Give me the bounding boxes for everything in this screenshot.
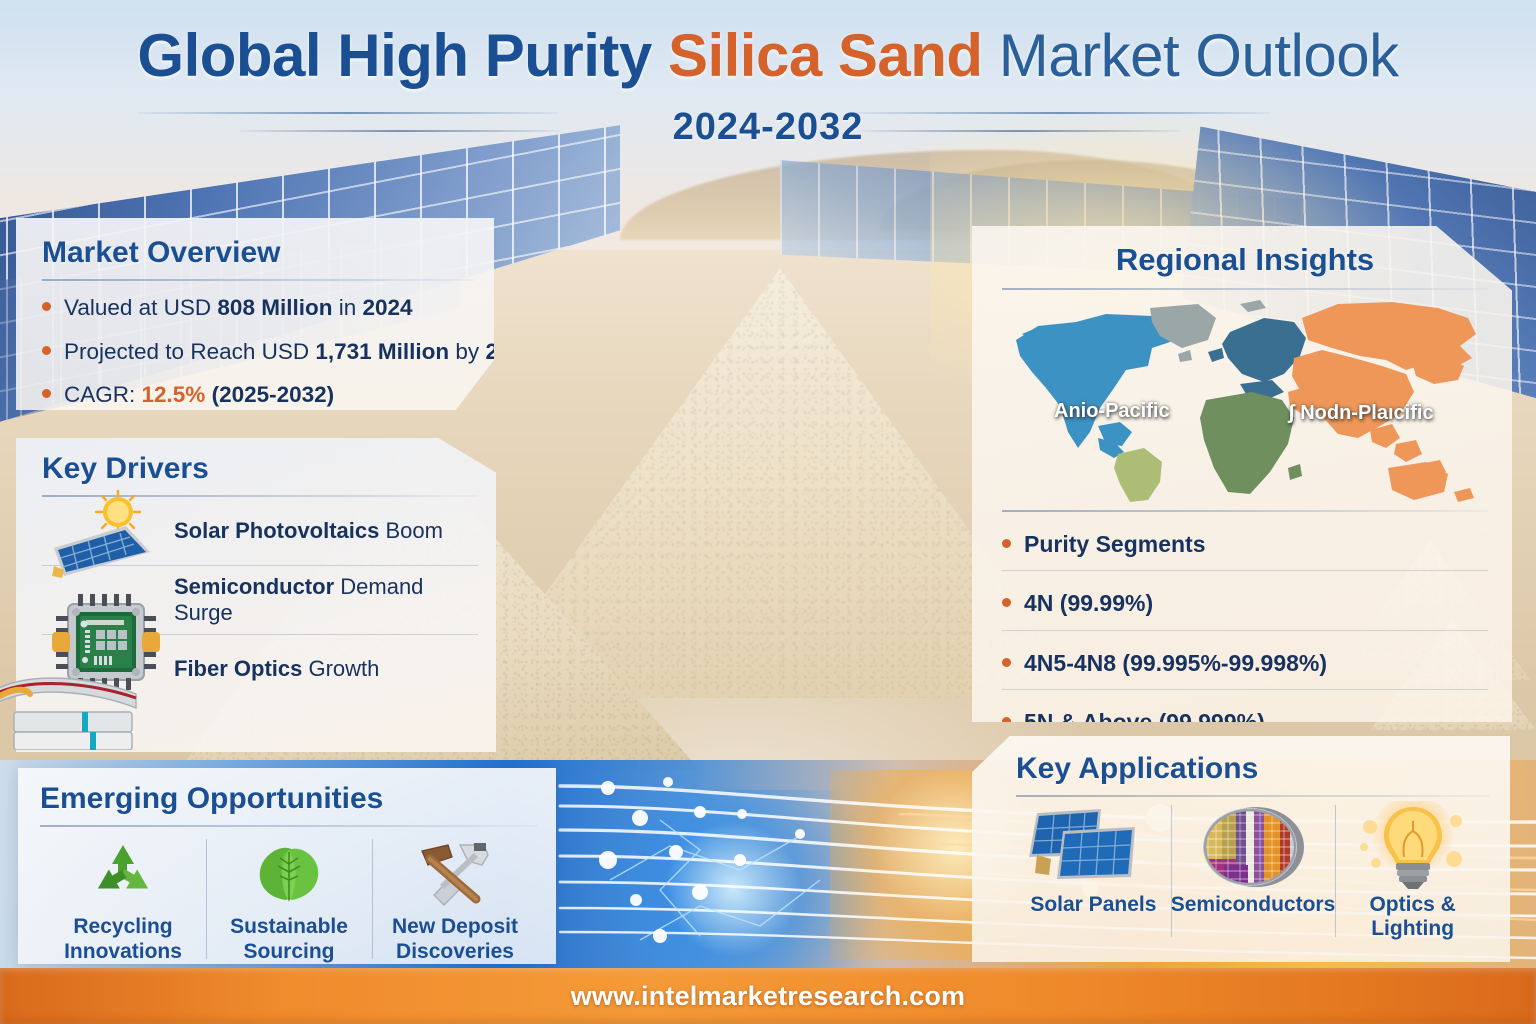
application-label: Solar Panels [1016, 893, 1171, 917]
opportunity-item: Sustainable Sourcing [206, 833, 372, 965]
hammer-pick-icon [372, 837, 538, 911]
application-label: Optics & Lighting [1335, 893, 1490, 941]
title-part-1: Global High Purity [137, 22, 668, 89]
bullet-dot-icon [1002, 539, 1011, 548]
region-north-america [1016, 314, 1176, 448]
application-item: Semiconductors [1171, 801, 1336, 941]
purity-segment-label: 4N5-4N8 (99.995%-99.998%) [1024, 647, 1327, 680]
opportunity-item: Recycling Innovations [40, 833, 206, 965]
lightbulb-icon [1335, 801, 1490, 891]
solar-panels-icon [1016, 801, 1171, 891]
regional-insights-heading: Regional Insights [1002, 242, 1488, 278]
list-item-text: Valued at USD 808 Million in 2024 [64, 292, 413, 325]
leaf-icon [206, 837, 372, 911]
market-overview-heading: Market Overview [42, 236, 474, 270]
list-item: CAGR: 12.5% (2025-2032) [42, 379, 474, 412]
key-applications-panel: Key Applications [972, 736, 1510, 962]
key-drivers-heading: Key Drivers [42, 452, 478, 486]
divider [1016, 795, 1490, 797]
list-item: 4N (99.99%) [1002, 587, 1488, 620]
bullet-dot-icon [42, 389, 51, 398]
list-item: Projected to Reach USD 1,731 Million by … [42, 336, 474, 369]
list-item: 4N5-4N8 (99.995%-99.998%) [1002, 647, 1488, 680]
list-item: Valued at USD 808 Million in 2024 [42, 292, 474, 325]
application-grid: Solar Panels [1016, 801, 1490, 941]
opportunity-grid: Recycling Innovations [40, 833, 538, 965]
key-driver-label: Semiconductor Demand Surge [174, 574, 478, 626]
divider [1002, 510, 1488, 512]
opportunity-label: New Deposit Discoveries [372, 915, 538, 965]
purity-segments-list: Purity Segments 4N (99.99%) 4N5-4N8 (99.… [1002, 528, 1488, 739]
emerging-opportunities-panel: Emerging Opportunities Recycling [18, 768, 556, 964]
opportunity-label: Sustainable Sourcing [206, 915, 372, 965]
title-highlight: Silica Sand [668, 22, 983, 89]
key-driver-label: Fiber Optics Growth [174, 656, 379, 682]
page-title: Global High Purity Silica Sand Market Ou… [0, 24, 1536, 88]
divider [1002, 570, 1488, 571]
title-year-range: 2024-2032 [657, 106, 880, 149]
application-item: Solar Panels [1016, 801, 1171, 941]
region-south-america [1114, 448, 1162, 502]
bullet-dot-icon [1002, 598, 1011, 607]
key-driver-label: Solar Photovoltaics Boom [174, 518, 443, 544]
application-item: Optics & Lighting [1335, 801, 1490, 941]
map-label-region-2: ʃ Nodn-Plaıcific [1288, 402, 1434, 425]
region-africa [1200, 392, 1294, 494]
title-rule-right-bottom [860, 130, 1180, 132]
purity-segment-label: 4N (99.99%) [1024, 587, 1153, 620]
title-block: Global High Purity Silica Sand Market Ou… [0, 24, 1536, 154]
infographic-canvas: Global High Purity Silica Sand Market Ou… [0, 0, 1536, 1024]
title-part-2: Market Outlook [983, 22, 1399, 89]
opportunity-item: New Deposit Discoveries [372, 833, 538, 965]
opportunity-label: Recycling Innovations [40, 915, 206, 965]
title-subrow: 2024-2032 [0, 94, 1536, 154]
divider [1002, 288, 1488, 290]
title-rule-left-top [138, 112, 558, 114]
bullet-dot-icon [1002, 658, 1011, 667]
fiber-optic-cable-icon [0, 672, 166, 755]
title-rule-left-bottom [240, 130, 560, 132]
key-applications-heading: Key Applications [1016, 752, 1490, 786]
map-label-region-1: Anio-Pacific [1054, 400, 1170, 423]
recycle-icon [40, 837, 206, 911]
title-rule-right-top [852, 112, 1270, 114]
market-overview-panel: Market Overview Valued at USD 808 Millio… [16, 218, 494, 410]
list-item-text: CAGR: 12.5% (2025-2032) [64, 379, 334, 412]
divider [42, 279, 474, 281]
purity-segment-label: Purity Segments [1024, 528, 1206, 561]
divider [40, 825, 538, 827]
footer-bar: www.intelmarketresearch.com [0, 968, 1536, 1024]
application-label: Semiconductors [1171, 893, 1336, 917]
silicon-wafer-icon [1171, 801, 1336, 891]
market-overview-list: Valued at USD 808 Million in 2024 Projec… [42, 292, 474, 412]
list-item: Purity Segments [1002, 528, 1488, 561]
divider [1002, 630, 1488, 631]
world-map: Anio-Pacific ʃ Nodn-Plaıcific [1002, 296, 1488, 506]
list-item-text: Projected to Reach USD 1,731 Million by … [64, 336, 536, 369]
bullet-dot-icon [42, 346, 51, 355]
divider [1002, 689, 1488, 690]
bullet-dot-icon [42, 302, 51, 311]
solar-panel-sun-icon [46, 490, 164, 587]
emerging-opportunities-heading: Emerging Opportunities [40, 782, 538, 816]
footer-url[interactable]: www.intelmarketresearch.com [571, 981, 966, 1012]
regional-insights-panel: Regional Insights [972, 226, 1512, 722]
